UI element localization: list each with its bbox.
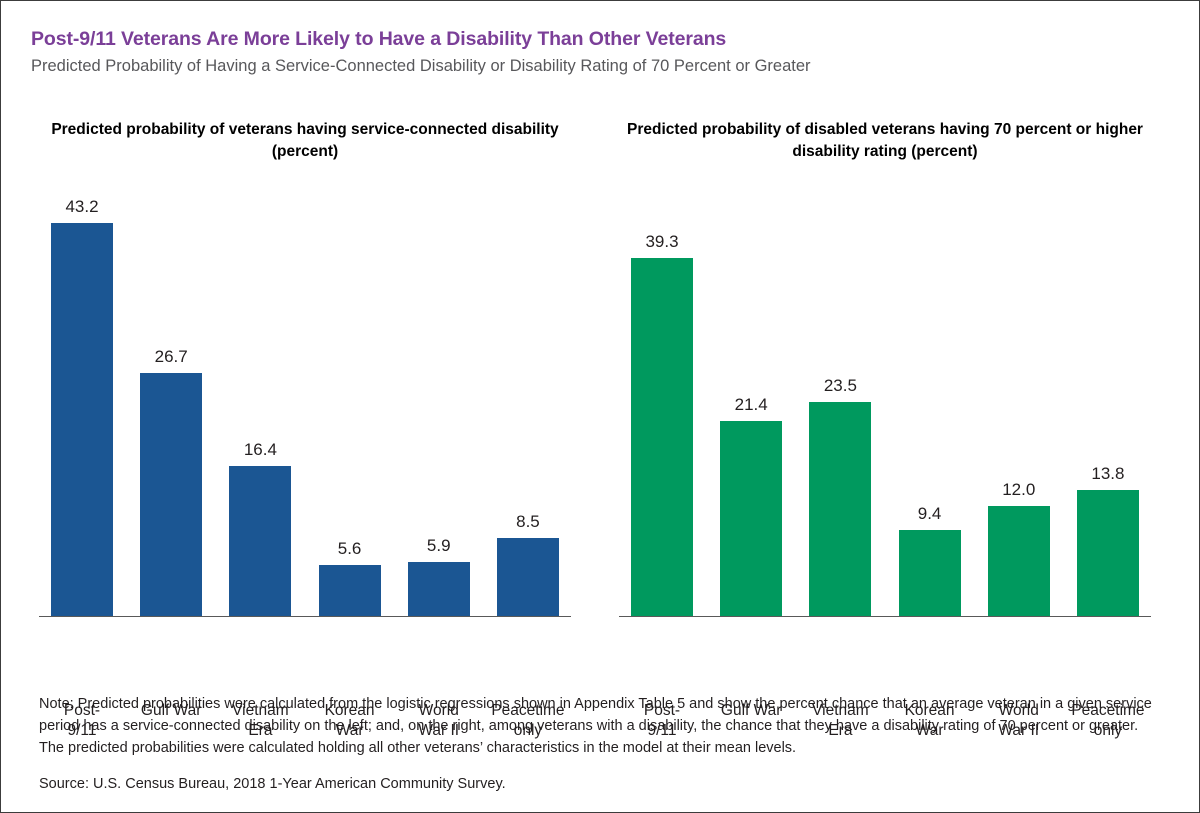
- bar-value-label: 12.0: [1002, 481, 1035, 498]
- bar-rect: [229, 466, 291, 615]
- bar-value-label: 16.4: [244, 441, 277, 458]
- figure-footer: Note: Predicted probabilities were calcu…: [39, 693, 1164, 796]
- bar-rect: [319, 565, 381, 616]
- bar-rect: [1077, 490, 1139, 615]
- bar-group: 26.7: [140, 198, 202, 616]
- bar-value-label: 13.8: [1091, 465, 1124, 482]
- bar-group: 5.9: [408, 198, 470, 616]
- bar-group: 39.3: [631, 198, 693, 616]
- figure-note: Note: Predicted probabilities were calcu…: [39, 693, 1164, 759]
- figure-subtitle: Predicted Probability of Having a Servic…: [31, 56, 1176, 77]
- panel-right-title: Predicted probability of disabled vetera…: [605, 119, 1165, 163]
- bar-value-label: 26.7: [155, 348, 188, 365]
- bar-value-label: 23.5: [824, 377, 857, 394]
- panel-right-axis-line: [619, 616, 1151, 618]
- bar-group: 9.4: [899, 198, 961, 616]
- bar-value-label: 5.6: [338, 540, 362, 557]
- bar-value-label: 5.9: [427, 537, 451, 554]
- panel-right-plot: 39.321.423.59.412.013.8 Post- 9/11Gulf W…: [605, 197, 1165, 617]
- bar-rect: [720, 421, 782, 615]
- bar-value-label: 43.2: [65, 198, 98, 215]
- bar-group: 13.8: [1077, 198, 1139, 616]
- panel-left-bars: 43.226.716.45.65.98.5: [51, 198, 559, 616]
- bar-rect: [809, 402, 871, 616]
- panel-right-bars: 39.321.423.59.412.013.8: [631, 198, 1139, 616]
- bar-group: 21.4: [720, 198, 782, 616]
- bar-group: 43.2: [51, 198, 113, 616]
- chart-panel-right: Predicted probability of disabled vetera…: [605, 119, 1165, 679]
- figure-header: Post-9/11 Veterans Are More Likely to Ha…: [31, 27, 1176, 77]
- bar-value-label: 21.4: [735, 396, 768, 413]
- bar-rect: [988, 506, 1050, 615]
- bar-group: 23.5: [809, 198, 871, 616]
- bar-group: 8.5: [497, 198, 559, 616]
- bar-value-label: 39.3: [645, 233, 678, 250]
- chart-figure: Post-9/11 Veterans Are More Likely to Ha…: [0, 0, 1200, 813]
- bar-rect: [51, 223, 113, 616]
- bar-value-label: 8.5: [516, 513, 540, 530]
- panel-left-plot: 43.226.716.45.65.98.5 Post- 9/11Gulf War…: [25, 197, 585, 617]
- bar-group: 16.4: [229, 198, 291, 616]
- chart-panel-left: Predicted probability of veterans having…: [25, 119, 585, 679]
- bar-rect: [899, 530, 961, 615]
- bar-value-label: 9.4: [918, 505, 942, 522]
- figure-title: Post-9/11 Veterans Are More Likely to Ha…: [31, 27, 1176, 51]
- bar-rect: [631, 258, 693, 615]
- bar-group: 12.0: [988, 198, 1050, 616]
- bar-group: 5.6: [319, 198, 381, 616]
- bar-rect: [408, 562, 470, 616]
- bar-rect: [140, 373, 202, 616]
- figure-source: Source: U.S. Census Bureau, 2018 1-Year …: [39, 774, 1164, 796]
- panel-left-axis-line: [39, 616, 571, 618]
- panel-left-title: Predicted probability of veterans having…: [25, 119, 585, 163]
- bar-rect: [497, 538, 559, 615]
